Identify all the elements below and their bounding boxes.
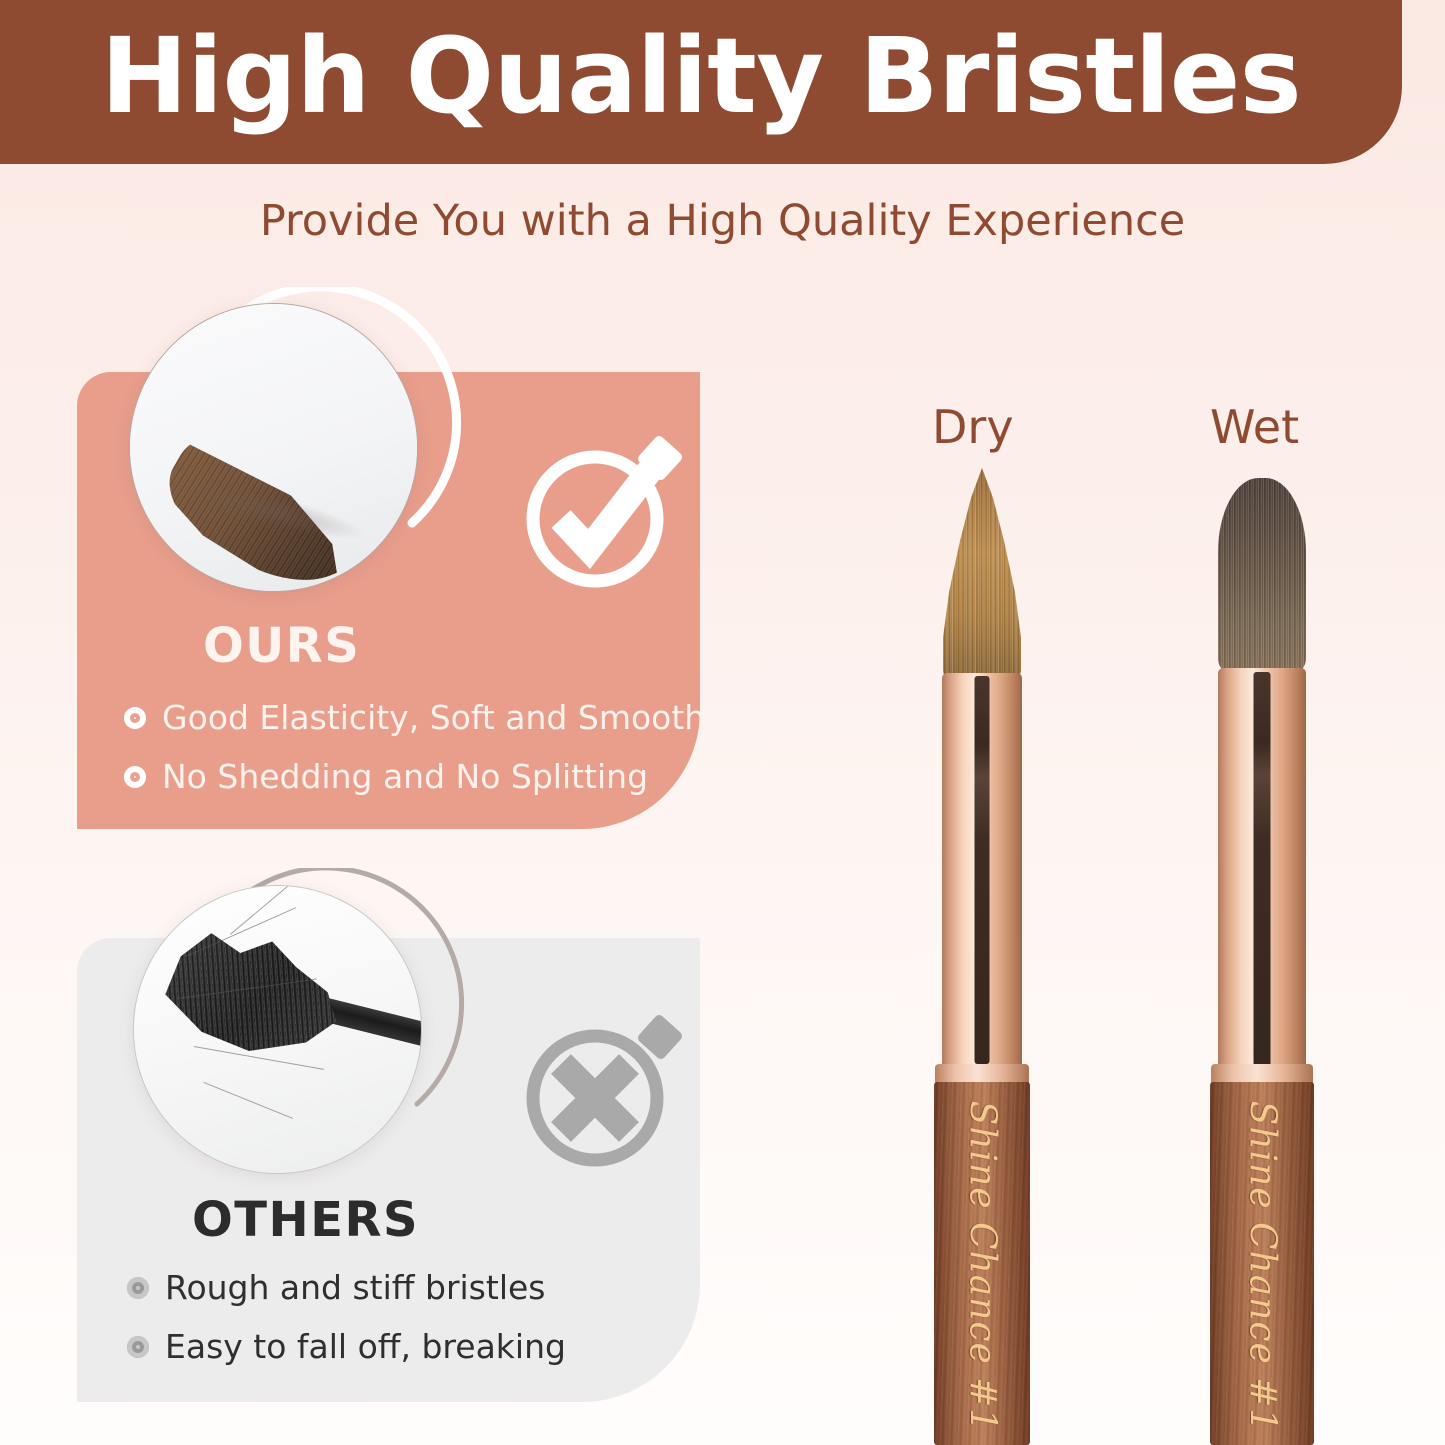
list-item: No Shedding and No Splitting: [124, 757, 705, 796]
dry-brush-image: Shine Chance #1: [918, 468, 1046, 1445]
list-item: Rough and stiff bristles: [127, 1268, 566, 1307]
dry-bristles: [943, 468, 1021, 680]
header-band: High Quality Bristles: [0, 0, 1402, 164]
ours-heading: OURS: [203, 618, 360, 674]
ferrule-channel: [975, 676, 990, 1064]
wooden-handle: Shine Chance #1: [934, 1082, 1030, 1445]
bullet-label: Easy to fall off, breaking: [165, 1327, 566, 1366]
wet-bristles: [1218, 478, 1306, 674]
bullet-dot-icon: [124, 766, 146, 788]
others-bullet-list: Rough and stiff bristles Easy to fall of…: [127, 1268, 566, 1386]
product-infographic: High Quality Bristles Provide You with a…: [0, 0, 1445, 1445]
page-title: High Quality Bristles: [0, 8, 1402, 145]
bullet-label: Good Elasticity, Soft and Smooth: [162, 698, 705, 737]
wet-brush-label: Wet: [1210, 400, 1299, 454]
bullet-label: Rough and stiff bristles: [165, 1268, 545, 1307]
others-product-photo: [133, 885, 422, 1174]
check-circle-icon: [517, 427, 685, 595]
wooden-handle: Shine Chance #1: [1210, 1082, 1314, 1445]
wet-brush-image: Shine Chance #1: [1198, 470, 1326, 1445]
dry-brush-label: Dry: [932, 400, 1014, 454]
list-item: Easy to fall off, breaking: [127, 1327, 566, 1366]
bullet-dot-icon: [127, 1277, 149, 1299]
ferrule-channel: [1254, 672, 1271, 1066]
bullet-dot-icon: [124, 707, 146, 729]
handle-engraving: Shine Chance #1: [1242, 1101, 1283, 1433]
cross-circle-icon: [517, 1006, 685, 1174]
ours-product-photo: [129, 303, 418, 592]
list-item: Good Elasticity, Soft and Smooth: [124, 698, 705, 737]
handle-engraving: Shine Chance #1: [962, 1101, 1003, 1433]
bullet-dot-icon: [127, 1336, 149, 1358]
page-subtitle: Provide You with a High Quality Experien…: [0, 196, 1445, 246]
bullet-label: No Shedding and No Splitting: [162, 757, 648, 796]
others-heading: OTHERS: [192, 1192, 419, 1248]
ours-bullet-list: Good Elasticity, Soft and Smooth No Shed…: [124, 698, 705, 816]
